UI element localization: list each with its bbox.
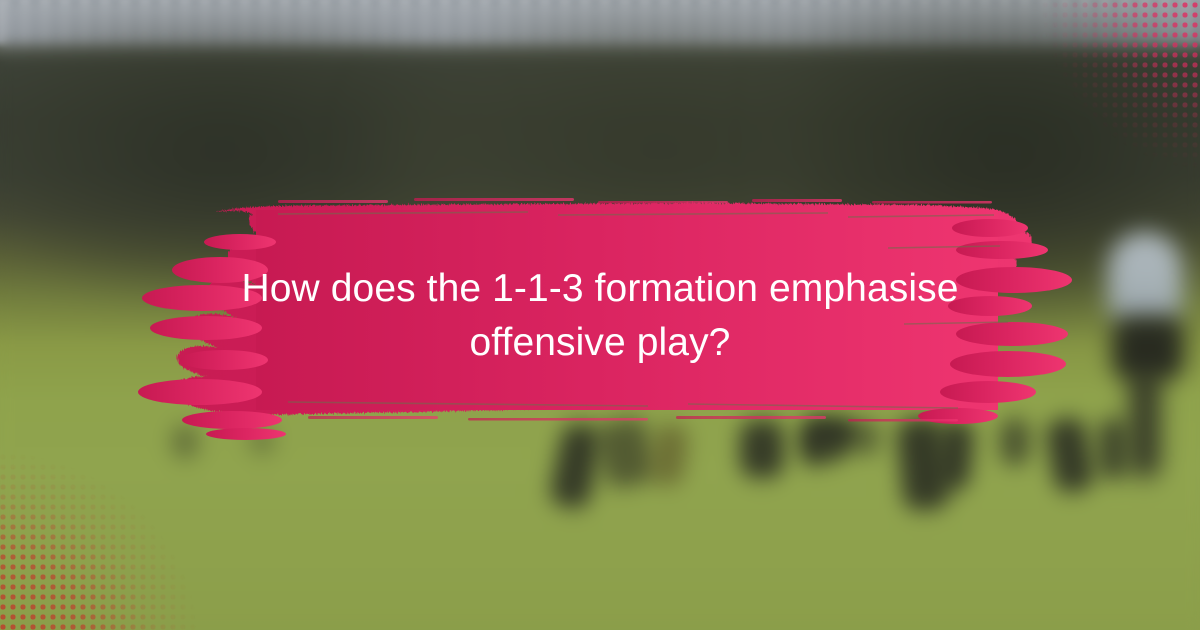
headline-text: How does the 1-1-3 formation emphasise o… [150, 262, 1050, 370]
share-card: How does the 1-1-3 formation emphasise o… [0, 0, 1200, 630]
